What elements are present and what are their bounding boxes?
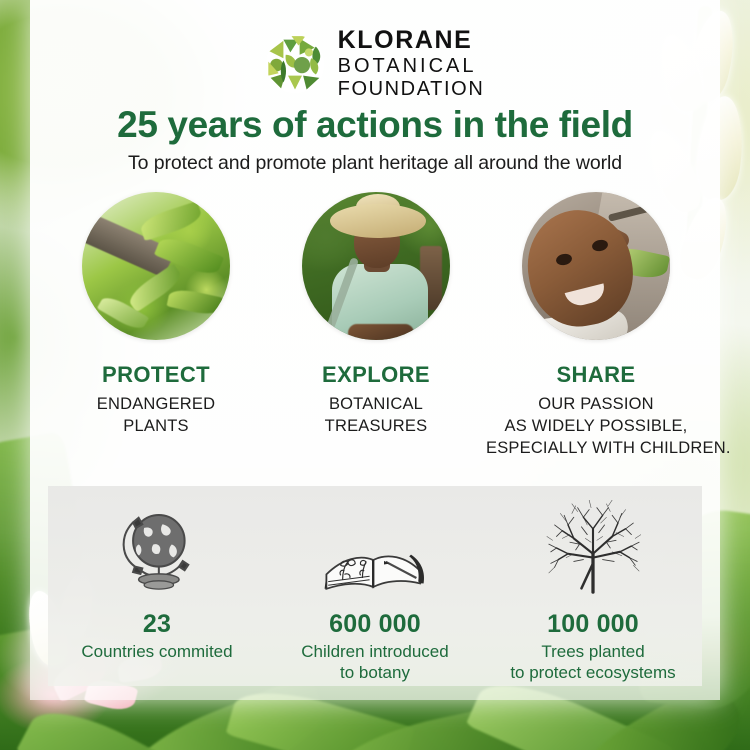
stat-label-line: to botany xyxy=(266,662,484,683)
pillar-title: SHARE xyxy=(486,362,706,388)
stat-number: 23 xyxy=(48,610,266,639)
pillars-row: PROTECT ENDANGERED PLANTS EXPLORE xyxy=(46,192,706,459)
child-with-leaf-photo xyxy=(522,192,670,340)
pillar-line: ENDANGERED xyxy=(46,393,266,415)
forest-canopy-photo xyxy=(82,192,230,340)
stat-label-line: Countries commited xyxy=(48,641,266,662)
pillar-line: TREASURES xyxy=(266,415,486,437)
stat-number: 600 000 xyxy=(266,610,484,639)
stat-label-line: to protect ecosystems xyxy=(484,662,702,683)
pillar-description: OUR PASSION AS WIDELY POSSIBLE, ESPECIAL… xyxy=(486,393,706,459)
pillar-title: EXPLORE xyxy=(266,362,486,388)
pillar-title: PROTECT xyxy=(46,362,266,388)
brand-name-klorane: KLORANE xyxy=(338,28,485,53)
stat-number: 100 000 xyxy=(484,610,702,639)
stat-label: Trees planted to protect ecosystems xyxy=(484,641,702,684)
stat-countries: 23 Countries commited xyxy=(48,486,266,686)
infographic-poster: KLORANE BOTANICAL FOUNDATION 25 years of… xyxy=(0,0,750,750)
brand-name-foundation: FOUNDATION xyxy=(338,79,485,99)
pillar-line: OUR PASSION xyxy=(486,393,706,415)
statistics-band: 23 Countries commited xyxy=(48,486,702,686)
brand-logo: KLORANE BOTANICAL FOUNDATION xyxy=(0,28,750,99)
stat-label-line: Trees planted xyxy=(484,641,702,662)
pillar-description: ENDANGERED PLANTS xyxy=(46,393,266,437)
page-subtitle: To protect and promote plant heritage al… xyxy=(30,152,720,175)
brand-wordmark: KLORANE BOTANICAL FOUNDATION xyxy=(338,28,485,99)
stat-children: 600 000 Children introduced to botany xyxy=(266,486,484,686)
pillar-description: BOTANICAL TREASURES xyxy=(266,393,486,437)
page-title: 25 years of actions in the field xyxy=(30,104,720,146)
pillar-line: PLANTS xyxy=(46,415,266,437)
pillar-line: ESPECIALLY WITH CHILDREN. xyxy=(486,437,706,459)
pillar-line: AS WIDELY POSSIBLE, xyxy=(486,415,706,437)
farmer-portrait-photo xyxy=(302,192,450,340)
open-sketchbook-icon xyxy=(266,500,484,596)
stat-trees: 100 000 Trees planted to protect ecosyst… xyxy=(484,486,702,686)
brand-name-botanical: BOTANICAL xyxy=(338,56,485,76)
stat-label-line: Children introduced xyxy=(266,641,484,662)
pillar-explore: EXPLORE BOTANICAL TREASURES xyxy=(266,192,486,459)
stat-label: Children introduced to botany xyxy=(266,641,484,684)
klorane-mosaic-leaf-logo xyxy=(266,35,324,93)
pillar-line: BOTANICAL xyxy=(266,393,486,415)
tree-icon xyxy=(484,500,702,596)
pillar-protect: PROTECT ENDANGERED PLANTS xyxy=(46,192,266,459)
pillar-share: SHARE OUR PASSION AS WIDELY POSSIBLE, ES… xyxy=(486,192,706,459)
globe-icon xyxy=(48,500,266,596)
stat-label: Countries commited xyxy=(48,641,266,662)
